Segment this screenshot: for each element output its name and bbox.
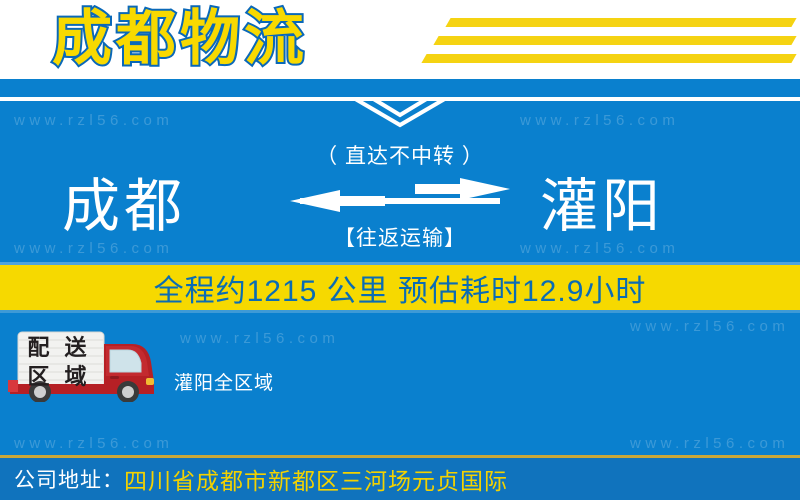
route-note-roundtrip: 【往返运输】 (288, 222, 512, 252)
speed-stripe-3 (421, 54, 796, 63)
watermark: www.rzl56.com (14, 112, 173, 129)
double-chevron-down-icon (352, 92, 448, 128)
speed-stripe-2 (433, 36, 796, 45)
truck-box-char-2: 送 (64, 337, 86, 359)
destination-city: 灌阳 (540, 170, 664, 244)
origin-city: 成都 (62, 170, 186, 244)
page-title: 成都物流 (52, 2, 308, 76)
truck-box-label: 配 送 区 域 (20, 333, 94, 391)
watermark: www.rzl56.com (520, 112, 679, 129)
banner-header: 成都物流 (0, 0, 800, 79)
distance-duration-text: 全程约1215 公里 预估耗时12.9小时 (154, 266, 647, 310)
distance-band: 全程约1215 公里 预估耗时12.9小时 (0, 265, 800, 310)
coverage-area-text: 灌阳全区域 (174, 368, 274, 395)
truck-box-char-1: 配 (27, 337, 49, 359)
truck-box-char-4: 域 (64, 366, 86, 388)
watermark: www.rzl56.com (14, 435, 173, 452)
route-note-direct: （ 直达不中转 ） (288, 140, 512, 170)
watermark: www.rzl56.com (630, 318, 789, 335)
address-value: 四川省成都市新都区三河场元贞国际 (124, 462, 508, 496)
speed-stripe-1 (445, 18, 796, 27)
watermark: www.rzl56.com (630, 435, 789, 452)
truck-box-char-3: 区 (27, 366, 49, 388)
logistics-banner: 成都物流 www.rzl56.com www.rzl56.com www.rzl… (0, 0, 800, 500)
band-bottom-edge (0, 310, 800, 313)
footer-address-bar: 公司地址： 四川省成都市新都区三河场元贞国际 (0, 458, 800, 500)
address-label: 公司地址： (14, 464, 124, 494)
bidirectional-arrow-icon (285, 178, 515, 214)
watermark: www.rzl56.com (180, 330, 339, 347)
